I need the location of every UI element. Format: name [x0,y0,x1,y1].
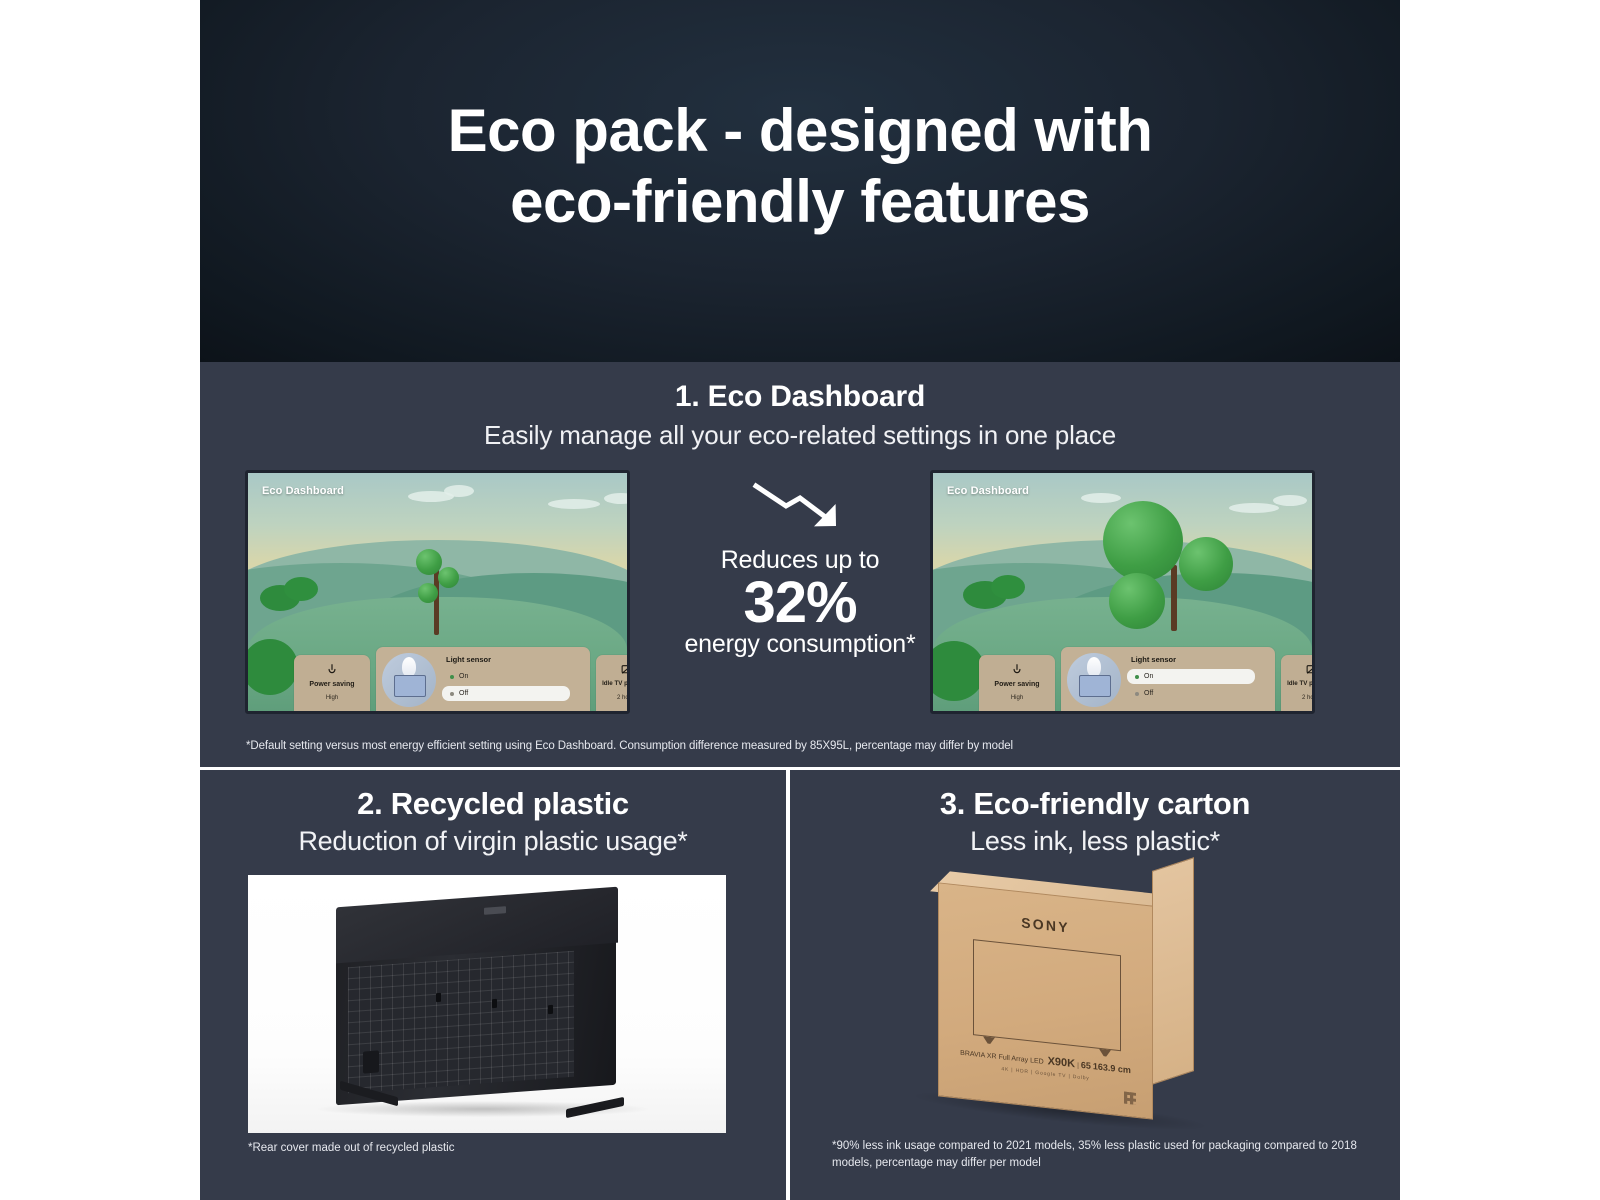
tv-rear-grid-texture [348,951,574,1094]
carton-spec-size-unit: 163.9 cm [1093,1061,1131,1075]
light-sensor-label: Light sensor [446,655,491,664]
section3-heading: 3. Eco-friendly carton [790,770,1400,822]
carton-front-face: SONY BRAVIA XR Full Array LED X90K | 65 … [938,882,1153,1119]
light-sensor-option-off[interactable]: Off [1127,686,1255,701]
dashboard-tiles-right: Power saving High Light sensor On [933,645,1312,711]
tree-leaf [1109,573,1165,629]
radio-dot-icon [450,692,454,696]
section1-heading: 1. Eco Dashboard [200,362,1400,414]
poster-root: Eco pack - designed with eco-friendly fe… [0,0,1600,1200]
radio-dot-icon [450,675,454,679]
dashboard-title-right: Eco Dashboard [947,485,1029,497]
bulb-glass [1087,657,1101,677]
bush-icon [991,575,1025,599]
tree-trunk [1171,565,1177,631]
cloud-icon [1273,495,1307,506]
tree-leaf [418,583,438,603]
bush-icon [284,577,318,601]
option-label-off: Off [1144,690,1153,697]
hero-title-line2: eco-friendly features [200,167,1400,238]
dashboard-tiles-left: Power saving High Light sensor On [248,645,627,711]
light-sensor-option-on[interactable]: On [1127,669,1255,684]
sony-logo: SONY [939,905,1152,944]
mini-tv-screen-icon [1079,675,1111,697]
section3-footnote-line1: *90% less ink usage compared to 2021 mod… [832,1140,1315,1152]
tile-light-sensor[interactable]: Light sensor On Off [376,647,590,711]
section-recycled-plastic: 2. Recycled plastic Reduction of virgin … [200,770,786,1200]
section-eco-dashboard: 1. Eco Dashboard Easily manage all your … [200,362,1400,767]
light-sensor-label: Light sensor [1131,655,1176,664]
section3-subheading: Less ink, less plastic* [790,822,1400,857]
tile-idle-tv-label: Idle TV power off [596,680,630,687]
tile-power-saving-value: High [979,695,1055,701]
tile-power-saving[interactable]: Power saving High [979,655,1055,711]
section2-footnote: *Rear cover made out of recycled plastic [248,1142,748,1154]
section3-footnote: *90% less ink usage compared to 2021 mod… [832,1138,1372,1171]
cloud-icon [548,499,600,509]
option-label-on: On [459,673,468,680]
hero-banner: Eco pack - designed with eco-friendly fe… [200,0,1400,362]
tv-shadow [318,1101,648,1117]
section-eco-carton: 3. Eco-friendly carton Less ink, less pl… [790,770,1400,1200]
radio-dot-icon [1135,692,1139,696]
tile-idle-tv-label: Idle TV power off [1281,680,1315,687]
tv-screen-right: Eco Dashboard Power saving High [930,470,1315,714]
mini-tv-screen-icon [394,675,426,697]
section1-subheading: Easily manage all your eco-related setti… [200,414,1400,451]
power-leaf-icon [1010,663,1024,677]
tile-idle-tv[interactable]: Idle TV power off 2 hours [1281,655,1315,711]
cloud-icon [1229,503,1279,513]
stat-value: 32% [635,573,965,632]
page-title: Eco pack - designed with eco-friendly fe… [200,96,1400,238]
dashboard-title-left: Eco Dashboard [262,485,344,497]
tile-light-sensor[interactable]: Light sensor On Off [1061,647,1275,711]
energy-reduction-stat: Reduces up to 32% energy consumption* [635,470,965,659]
qr-code-icon [1124,1092,1136,1105]
section2-subheading: Reduction of virgin plastic usage* [200,822,786,857]
tile-power-saving-label: Power saving [979,681,1055,688]
tree-leaf [438,567,459,588]
carton-spec-series: BRAVIA XR [960,1050,996,1061]
tile-idle-tv[interactable]: Idle TV power off 2 hours [596,655,630,711]
cloud-icon [444,485,474,497]
option-label-on: On [1144,673,1153,680]
dashboard-comparison-row: Eco Dashboard Power saving High [200,470,1400,720]
tv-port [492,999,497,1008]
section1-footnote: *Default setting versus most energy effi… [246,740,1356,752]
light-bulb-icon [1067,653,1121,707]
tree-leaf [416,549,442,575]
tile-power-saving-label: Power saving [294,681,370,688]
carton-side-face [1152,857,1194,1085]
carton-tv-foot-left [983,1036,995,1044]
tile-power-saving-value: High [294,695,370,701]
light-bulb-icon [382,653,436,707]
carton-photo: SONY BRAVIA XR Full Array LED X90K | 65 … [790,870,1400,1140]
bulb-glass [402,657,416,677]
carton-spec-panel: Full Array LED [999,1054,1044,1066]
power-leaf-icon [325,663,339,677]
tv-connector-block [363,1050,379,1073]
light-sensor-option-off[interactable]: Off [442,686,570,701]
tile-power-saving[interactable]: Power saving High [294,655,370,711]
downward-trend-arrow-icon [752,480,848,536]
section2-heading: 2. Recycled plastic [200,770,786,822]
tv-port [548,1005,553,1014]
carton-spec-model: X90K [1048,1055,1076,1070]
option-label-off: Off [459,690,468,697]
carton-tv-foot-right [1099,1049,1111,1057]
radio-dot-icon [1135,675,1139,679]
carton-tv-outline [973,939,1121,1051]
tile-idle-tv-value: 2 hours [1281,695,1315,701]
idle-screen-off-icon [1306,663,1316,676]
hero-title-line1: Eco pack - designed with [448,97,1153,164]
tv-screen-left: Eco Dashboard Power saving High [245,470,630,714]
tv-port [436,993,441,1002]
tree-leaf [1179,537,1233,591]
light-sensor-option-on[interactable]: On [442,669,570,684]
tree-leaf [1103,501,1183,581]
cloud-icon [604,493,630,504]
carton-spec-size: 65 [1081,1060,1091,1071]
stat-trail-text: energy consumption* [635,630,965,659]
tile-idle-tv-value: 2 hours [596,695,630,701]
cloud-icon [1081,493,1121,503]
idle-screen-off-icon [621,663,631,676]
tv-rear-cover-photo [248,875,726,1133]
